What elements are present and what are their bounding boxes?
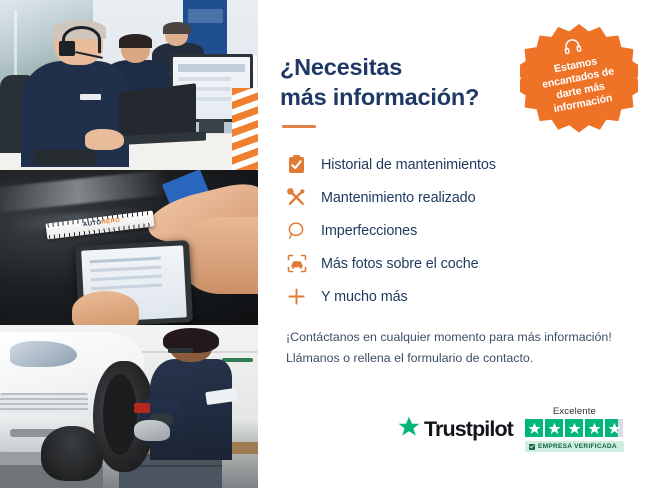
trustpilot-logo[interactable]: Trustpilot	[398, 416, 513, 442]
list-item-label: Y mucho más	[321, 289, 408, 305]
tire-sidewall	[103, 374, 137, 456]
feature-list: Historial de mantenimientos M	[286, 148, 628, 313]
desk-tablet	[34, 150, 96, 165]
list-item: Historial de mantenimientos	[286, 148, 628, 181]
verified-company-badge: EMPRESA VERIFICADA	[525, 441, 624, 452]
agent-name-badge	[80, 94, 101, 101]
vehicle-inspection-ruler-photo: AUTOHERO	[0, 170, 258, 325]
star-rating	[525, 419, 623, 437]
safety-glasses-icon	[168, 348, 194, 353]
check-square-icon	[529, 444, 535, 450]
status-badge: Estamos encantados de darte más informac…	[520, 24, 638, 142]
inspector-hand-holding-tablet	[72, 291, 139, 325]
trustpilot-brand-label: Trustpilot	[424, 417, 513, 442]
monitor-stand	[199, 119, 225, 133]
green-hose	[222, 358, 253, 362]
rating-label: Excelente	[553, 406, 596, 417]
contact-line-1: ¡Contáctanos en cualquier momento para m…	[286, 327, 628, 347]
contact-paragraph: ¡Contáctanos en cualquier momento para m…	[286, 327, 628, 368]
orange-stripe-backdrop	[232, 88, 258, 170]
list-item-label: Imperfecciones	[321, 223, 417, 239]
headline-line-1: ¿Necesitas	[280, 54, 402, 80]
list-item-label: Más fotos sobre el coche	[321, 256, 479, 272]
tools-cross-icon	[286, 187, 307, 208]
badge-label: Estamos encantados de darte más informac…	[529, 51, 629, 119]
magnifier-icon	[286, 220, 307, 241]
list-item-label: Historial de mantenimientos	[321, 157, 496, 173]
info-panel: ¿Necesitas más información? Historial de…	[258, 0, 650, 488]
car-scan-icon	[286, 253, 307, 274]
headline-line-2: más información?	[280, 84, 479, 110]
trustpilot-widget[interactable]: Trustpilot Excelente	[398, 406, 624, 452]
star-filled-4	[585, 419, 603, 437]
mechanic-wheel-inspection-photo	[0, 325, 258, 488]
car-headlight	[10, 341, 77, 367]
list-item: Imperfecciones	[286, 214, 628, 247]
car-grille	[0, 393, 88, 413]
call-center-agents-photo	[0, 0, 258, 170]
title-underline-divider	[282, 125, 316, 128]
star-partial-5	[605, 419, 623, 437]
clipboard-check-icon	[286, 154, 307, 175]
photo-collage: AUTOHERO	[0, 0, 258, 488]
verified-label: EMPRESA VERIFICADA	[538, 443, 617, 450]
badge-content: Estamos encantados de darte más informac…	[510, 14, 648, 152]
inspector-arm-lower	[181, 217, 258, 295]
list-item: Mantenimiento realizado	[286, 181, 628, 214]
agent-two-hair	[119, 34, 153, 48]
page-title: ¿Necesitas más información?	[280, 52, 530, 112]
star-filled-3	[565, 419, 583, 437]
headset-icon	[562, 37, 583, 60]
list-item: Y mucho más	[286, 280, 628, 313]
list-item: Más fotos sobre el coche	[286, 247, 628, 280]
agent-three-hair	[163, 22, 191, 34]
star-filled-1	[525, 419, 543, 437]
headset-earcup	[59, 41, 74, 56]
work-glove	[134, 420, 170, 441]
trustpilot-star-icon	[398, 416, 420, 442]
plus-icon	[286, 286, 307, 307]
hand-tool	[134, 403, 149, 413]
trustpilot-rating: Excelente	[525, 406, 624, 452]
agent-one-hand	[85, 129, 124, 149]
promo-banner: AUTOHERO	[0, 0, 650, 488]
star-filled-2	[545, 419, 563, 437]
contact-line-2: Llámanos o rellena el formulario de cont…	[286, 348, 628, 368]
list-item-label: Mantenimiento realizado	[321, 190, 476, 206]
